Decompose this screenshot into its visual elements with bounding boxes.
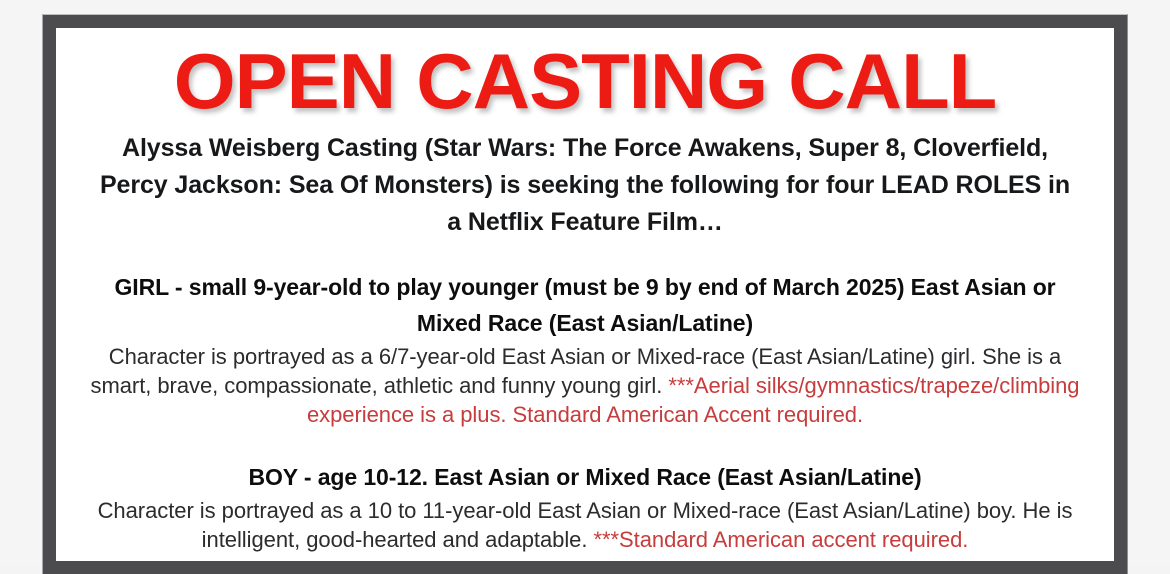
role-heading-girl: GIRL - small 9-year-old to play younger … — [90, 269, 1080, 341]
casting-intro-paragraph: Alyssa Weisberg Casting (Star Wars: The … — [90, 130, 1080, 241]
role-block-boy: BOY - age 10-12. East Asian or Mixed Rac… — [90, 459, 1080, 554]
page-title: OPEN CASTING CALL — [80, 40, 1090, 122]
role-block-girl: GIRL - small 9-year-old to play younger … — [90, 269, 1080, 429]
role-description-boy: Character is portrayed as a 10 to 11-yea… — [90, 496, 1080, 554]
document-page: OPEN CASTING CALL Alyssa Weisberg Castin… — [56, 28, 1114, 561]
role-heading-boy: BOY - age 10-12. East Asian or Mixed Rac… — [90, 459, 1080, 495]
flyer-viewport: OPEN CASTING CALL Alyssa Weisberg Castin… — [0, 0, 1170, 565]
role-requirement-boy: ***Standard American accent required. — [594, 527, 969, 552]
document-frame: OPEN CASTING CALL Alyssa Weisberg Castin… — [42, 14, 1128, 574]
role-description-girl: Character is portrayed as a 6/7-year-old… — [90, 342, 1080, 429]
